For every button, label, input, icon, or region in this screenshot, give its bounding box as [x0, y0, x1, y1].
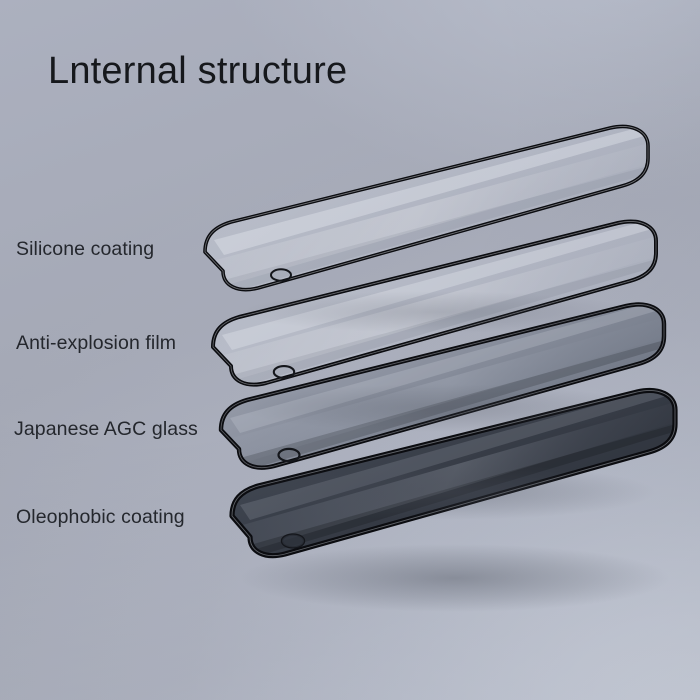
layer-1-shadow: [240, 291, 632, 333]
layer-label-anti-explosion-film: Anti-explosion film: [16, 332, 176, 355]
page-title: Lnternal structure: [48, 50, 347, 93]
layer-label-oleophobic-coating: Oleophobic coating: [16, 506, 185, 529]
layer-2-shadow: [240, 384, 644, 432]
layer-4-shadow: [240, 544, 670, 612]
infographic-canvas: Lnternal structure Silicone coating Anti…: [0, 0, 700, 700]
camera-hole-icon: [282, 535, 304, 548]
layer-3-shadow: [240, 464, 656, 520]
layer-label-japanese-agc-glass: Japanese AGC glass: [14, 418, 198, 441]
layer-label-silicone-coating: Silicone coating: [16, 238, 154, 261]
